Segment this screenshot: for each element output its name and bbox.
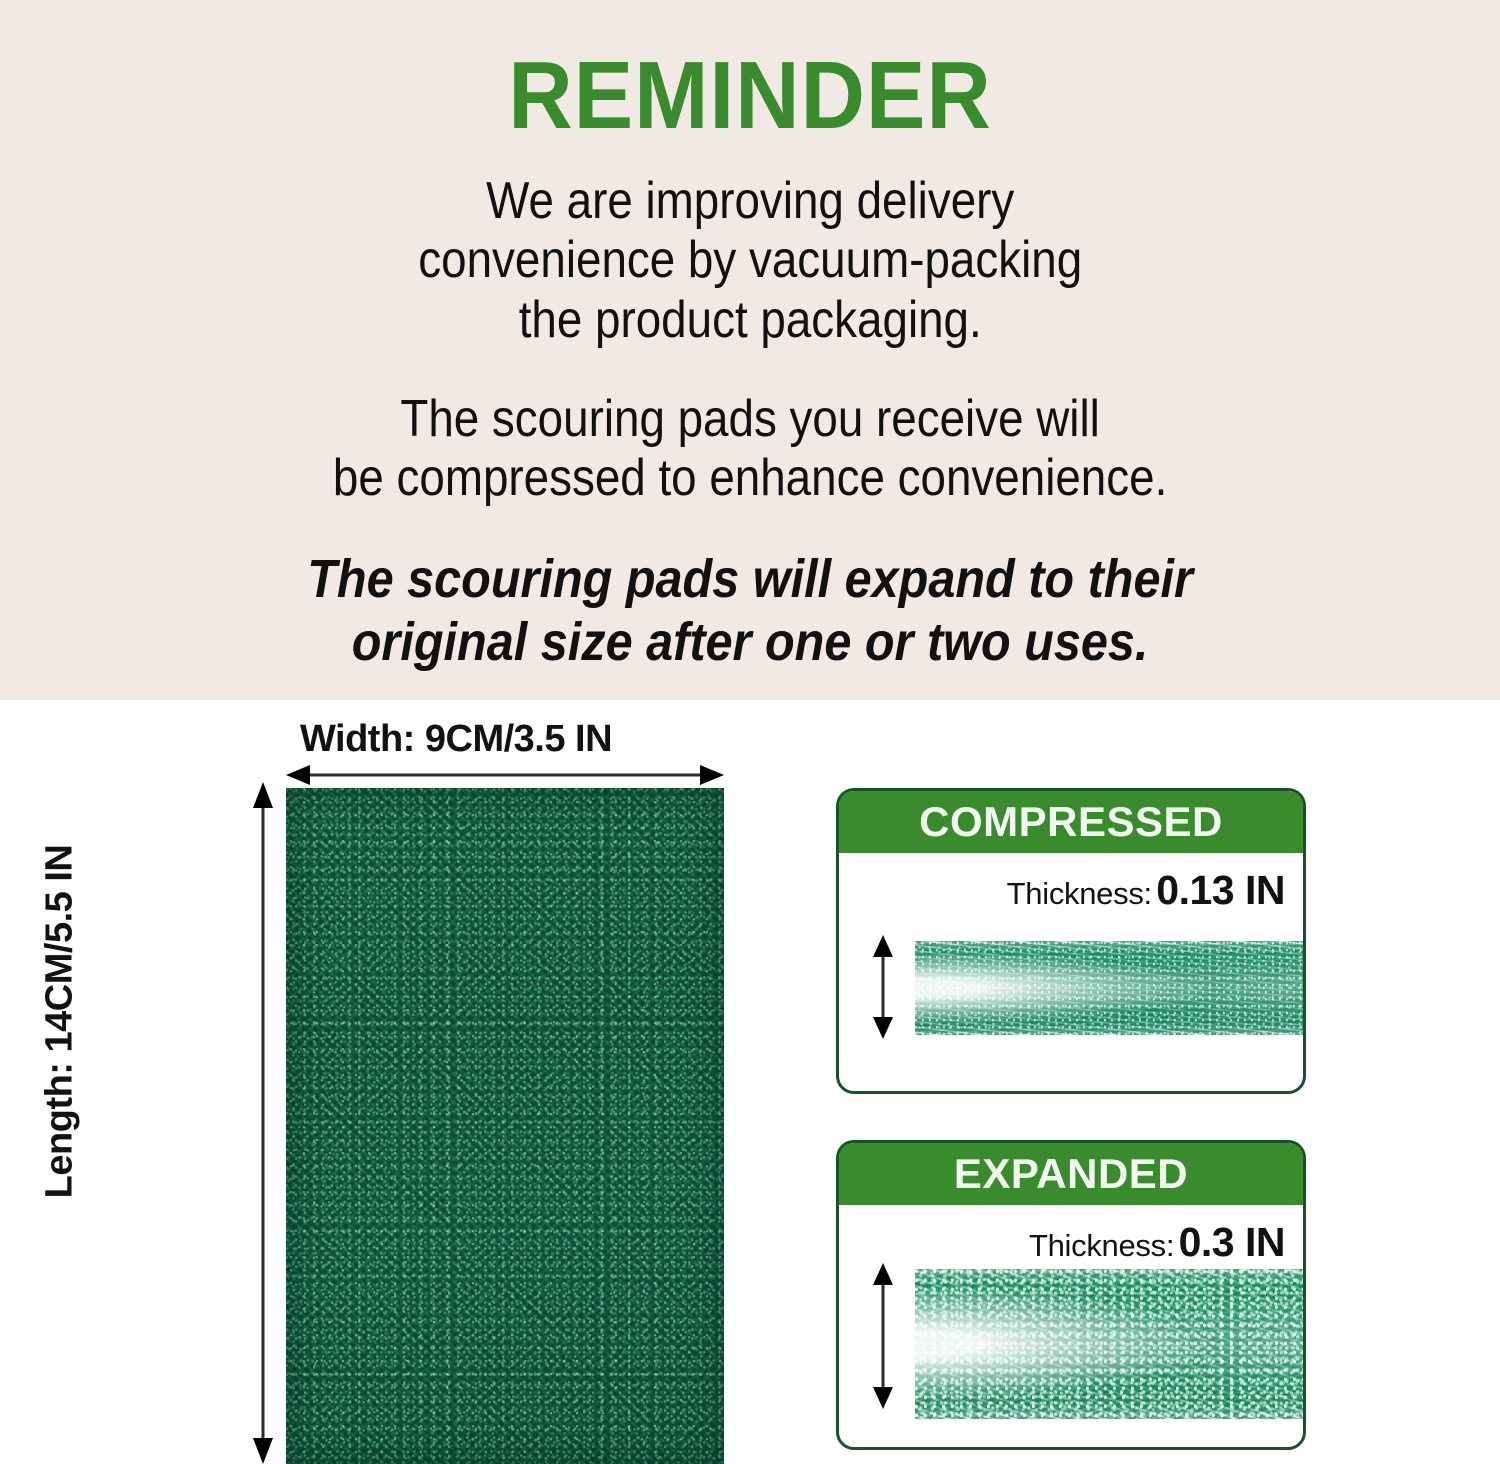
card-compressed-body: Thickness: 0.13 IN xyxy=(839,853,1303,1091)
width-dimension-arrow-icon xyxy=(286,762,724,788)
expanded-thickness-arrow-icon xyxy=(871,1263,895,1409)
compressed-thickness-value: 0.13 IN xyxy=(1156,867,1285,913)
reminder-paragraph-3: The scouring pads will expand to their o… xyxy=(307,548,1193,673)
reminder-paragraph-1: We are improving delivery convenience by… xyxy=(418,172,1082,350)
compressed-thickness-line: Thickness: 0.13 IN xyxy=(839,867,1285,914)
pad-length-label: Length: 14CM/5.5 IN xyxy=(39,822,82,1222)
compressed-thickness-label: Thickness: xyxy=(1007,876,1152,911)
card-expanded-header: EXPANDED xyxy=(839,1143,1303,1205)
card-expanded: EXPANDED Thickness: 0.3 IN xyxy=(836,1140,1306,1450)
reminder-paragraph-2: The scouring pads you receive will be co… xyxy=(333,390,1167,509)
expanded-pad-swatch xyxy=(915,1269,1305,1419)
scouring-pad-image xyxy=(286,788,724,1464)
length-dimension-arrow-icon xyxy=(250,782,276,1464)
card-compressed-header: COMPRESSED xyxy=(839,791,1303,853)
expanded-thickness-value: 0.3 IN xyxy=(1179,1219,1285,1265)
compressed-pad-swatch xyxy=(915,941,1305,1035)
reminder-panel: REMINDER We are improving delivery conve… xyxy=(0,0,1500,700)
card-expanded-body: Thickness: 0.3 IN xyxy=(839,1205,1303,1447)
pad-width-label: Width: 9CM/3.5 IN xyxy=(300,718,612,761)
expanded-thickness-label: Thickness: xyxy=(1029,1228,1174,1263)
page-title: REMINDER xyxy=(508,48,992,144)
card-compressed: COMPRESSED Thickness: 0.13 IN xyxy=(836,788,1306,1094)
compressed-thickness-arrow-icon xyxy=(871,935,895,1039)
expanded-thickness-line: Thickness: 0.3 IN xyxy=(839,1219,1285,1266)
